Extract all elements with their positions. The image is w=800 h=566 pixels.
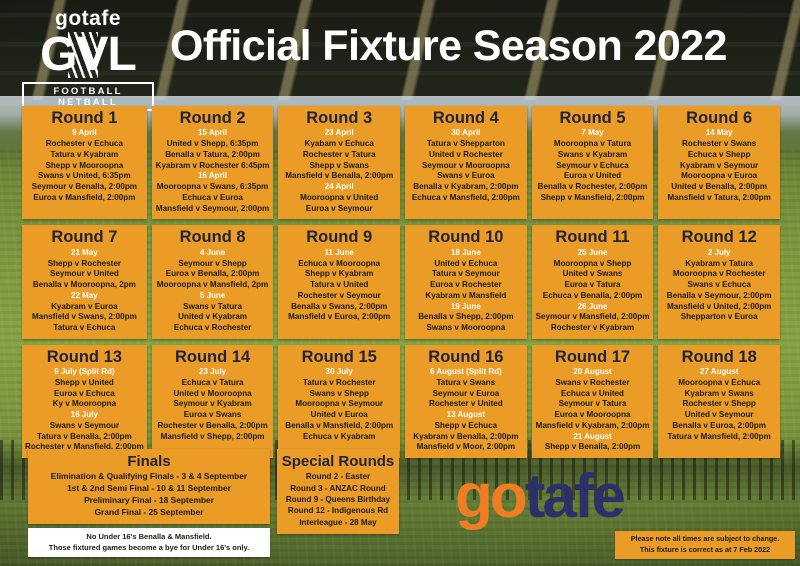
gotafe-wordmark: gotafe [22, 8, 154, 29]
fixture-match: Swans v Rochester [535, 378, 651, 389]
round-date: 22 May [25, 291, 144, 302]
fixture-match: Kyabram v Tatura [661, 259, 777, 270]
fixture-match: Echuca v Shepp [661, 150, 777, 161]
fixture-match: Echuca v Benalla, 2:00pm [535, 291, 651, 302]
fixture-match: Tatura v Mansfield, 2:00pm [661, 432, 777, 443]
fixture-match: United v Kyabram [155, 312, 271, 323]
fixture-match: Mooroopna v Echuca [661, 378, 777, 389]
fixture-match: Tatura v Swans [408, 378, 524, 389]
fixture-match: Mansfield v Seymour, 2:00pm [155, 204, 271, 215]
round-date: 19 June [408, 302, 524, 313]
fixture-match: Shepp v Rochester [25, 259, 144, 270]
round-date: 30 July [281, 367, 397, 378]
fixture-match: Mooroopna v Mansfield, 2pm [155, 280, 271, 291]
round-card: Round 57 MayMooroopna v TaturaSwans v Ky… [532, 106, 654, 219]
round-card: Round 614 MayRochester v SwansEchuca v S… [658, 106, 780, 219]
round-date: 24 April [281, 182, 397, 193]
special-round-line: Round 9 - Queens Birthday [281, 494, 395, 505]
fixture-match: Mansfield v United, 2:00pm [661, 302, 777, 313]
fixture-match: Tatura v United [281, 280, 397, 291]
fixture-match: Seymour v Mooroopna [408, 161, 524, 172]
round-title: Round 7 [25, 229, 144, 246]
under16-note-lines: No Under 16's Benalla & Mansfield.Those … [32, 531, 266, 554]
round-title: Round 6 [661, 110, 777, 127]
fixture-match: Rochester v Swans [661, 139, 777, 150]
round-date: 6 August (Split Rd) [408, 367, 524, 378]
fixture-match: Swans v United, 6:35pm [25, 171, 144, 182]
fixture-match: Seymour v Echuca [535, 161, 651, 172]
round-card: Round 1018 JuneUnited v EchucaTatura v S… [405, 225, 527, 338]
fixture-poster: gotafe GVL FOOTBALL NETBALL Official Fix… [0, 0, 800, 566]
round-date: 13 August [408, 410, 524, 421]
fixture-match: Mooroopna v Euroa [661, 171, 777, 182]
fixture-match: Shepp v Echuca [408, 421, 524, 432]
fixture-match: Benalla v Shepp, 2:00pm [408, 312, 524, 323]
fixture-match: Seymour v Benalla, 2:00pm [25, 182, 144, 193]
round-title: Round 15 [281, 349, 397, 366]
round-card: Round 19 AprilRochester v EchucaTatura v… [22, 106, 147, 219]
fixture-match: Kyabram v Swans [661, 389, 777, 400]
round-date: 25 June [535, 248, 651, 259]
disclaimer-lines: Please note all times are subject to cha… [619, 534, 791, 556]
round-card: Round 215 AprilUnited v Shepp, 6:35pmBen… [152, 106, 274, 219]
special-rounds-panel: Special Rounds Round 2 - EasterRound 3 -… [277, 449, 399, 534]
fixture-match: Mansfield v Kyabram, 2:00pm [535, 421, 651, 432]
round-title: Round 3 [281, 110, 397, 127]
fixture-match: Rochester v Seymour [281, 291, 397, 302]
round-date: 20 August [535, 367, 651, 378]
under16-note-line: Those fixtured games become a bye for Un… [32, 542, 266, 553]
finals-line: Elimination & Qualifying Finals - 3 & 4 … [32, 471, 266, 483]
watermark-go-text: go [455, 462, 525, 531]
round-date: 23 July [155, 367, 271, 378]
round-title: Round 1 [25, 110, 144, 127]
round-date: 11 June [281, 248, 397, 259]
fixture-match: Rochester v Kyabram [535, 323, 651, 334]
round-title: Round 12 [661, 229, 777, 246]
fixture-match: Rochester v Tatura [281, 150, 397, 161]
fixture-match: Euroa v Swans [155, 410, 271, 421]
round-title: Round 18 [661, 349, 777, 366]
fixture-match: Seymour v Mansfield, 2:00pm [535, 312, 651, 323]
fixture-match: Mooroopna v United [281, 193, 397, 204]
round-card: Round 84 JuneSeymour v SheppEuroa v Bena… [152, 225, 274, 338]
fixture-match: Mansfield v Euroa, 2:00pm [281, 312, 397, 323]
fixture-match: Seymour v United [25, 269, 144, 280]
special-round-line: Round 3 - ANZAC Round [281, 483, 395, 494]
round-title: Round 4 [408, 110, 524, 127]
round-title: Round 2 [155, 110, 271, 127]
fixture-match: Euroa v Seymour [281, 204, 397, 215]
fixture-match: Tatura v Seymour [408, 269, 524, 280]
fixture-match: Kyabam v Echuca [281, 139, 397, 150]
round-title: Round 13 [25, 349, 144, 366]
fixture-match: Mooroopna v Rochester [661, 269, 777, 280]
fixture-match: United v Seymour [661, 410, 777, 421]
gotafe-watermark-logo: gotafe [455, 466, 623, 528]
fixture-match: Echuca v Euroa [155, 193, 271, 204]
fixture-match: Shepparton v Euroa [661, 312, 777, 323]
round-card: Round 122 JulyKyabram v TaturaMooroopna … [658, 225, 780, 338]
fixture-match: Euroa v Rochester [408, 280, 524, 291]
fixture-match: Kyabram v Rochester 6:45pm [155, 161, 271, 172]
round-card: Round 430 AprilTatura v SheppartonUnited… [405, 106, 527, 219]
fixture-match: Mooroopna v Shepp [535, 259, 651, 270]
fixture-match: Tatura v Echuca [25, 323, 144, 334]
fixture-match: Tatura v Rochester [281, 378, 397, 389]
fixture-match: Mansfield v Tatura, 2:00pm [661, 193, 777, 204]
round-date: 23 April [281, 128, 397, 139]
round-title: Round 10 [408, 229, 524, 246]
round-date: 15 April [155, 128, 271, 139]
fixture-match: Euroa v Benalla, 2:00pm [155, 269, 271, 280]
round-title: Round 16 [408, 349, 524, 366]
finals-line: Grand Final - 25 September [32, 507, 266, 519]
fixture-match: Echuca v Mooroopna [281, 259, 397, 270]
round-date: 5 June [155, 291, 271, 302]
fixture-match: Rochester v Benalla, 2:00pm [155, 421, 271, 432]
finals-line: Preliminary Final - 18 September [32, 495, 266, 507]
fixture-match: Ky v Mooroopna [25, 399, 144, 410]
fixture-match: Rochester v Shepp [661, 399, 777, 410]
under16-note-line: No Under 16's Benalla & Mansfield. [32, 531, 266, 542]
special-round-line: Round 12 - Indigenous Rd [281, 505, 395, 516]
fixture-match: Kyabram v Benalla, 2:00pm [408, 432, 524, 443]
round-card: Round 1827 AugustMooroopna v EchucaKyabr… [658, 345, 780, 458]
fixture-match: Tatura v Kyabram [25, 150, 144, 161]
fixture-match: Kyabram v Euroa [25, 302, 144, 313]
fixture-match: Mansfield v Swans, 2:00pm [25, 312, 144, 323]
gvl-logo: gotafe GVL FOOTBALL NETBALL [22, 8, 154, 111]
round-title: Round 9 [281, 229, 397, 246]
fixture-match: Benalla v Euroa, 2:00pm [661, 421, 777, 432]
finals-panel: Finals Elimination & Qualifying Finals -… [28, 449, 270, 524]
special-rounds-lines: Round 2 - EasterRound 3 - ANZAC RoundRou… [281, 471, 395, 528]
fixture-match: Shepp v Kyabram [281, 269, 397, 280]
fixture-match: Benalla v Mooroopna, 2pm [25, 280, 144, 291]
round-date: 21 May [25, 248, 144, 259]
fixture-match: United v Rochester [408, 150, 524, 161]
page-title: Official Fixture Season 2022 [170, 22, 785, 71]
fixture-match: Euroa v Mansfield, 2:00pm [25, 193, 144, 204]
fixture-match: Mooroopna v Tatura [535, 139, 651, 150]
round-date: 27 August [661, 367, 777, 378]
round-date: 18 June [408, 248, 524, 259]
fixture-match: Echuca v Kyabram [281, 432, 397, 443]
fixture-match: Echuca v United [535, 389, 651, 400]
round-card: Round 1720 AugustSwans v RochesterEchuca… [532, 345, 654, 458]
round-date: 7 May [535, 128, 651, 139]
round-date: 21 August [535, 432, 651, 443]
fixture-match: Seymour v Kyabram [155, 399, 271, 410]
fixture-match: Benalla v Tatura, 2:00pm [155, 150, 271, 161]
round-title: Round 8 [155, 229, 271, 246]
fixture-match: Euroa v United [535, 171, 651, 182]
fixture-match: Swans v Kyabram [535, 150, 651, 161]
fixture-match: Seymour v Euroa [408, 389, 524, 400]
fixture-match: Swans v Euroa [408, 171, 524, 182]
rounds-grid: Round 19 AprilRochester v EchucaTatura v… [22, 106, 780, 458]
fixture-match: Benalla v Swans, 2:00pm [281, 302, 397, 313]
disclaimer-line: This fixture is correct as at 7 Feb 2022 [619, 545, 791, 556]
round-date: 2 July [661, 248, 777, 259]
round-date: 9 July (Split Rd) [25, 367, 144, 378]
finals-title: Finals [32, 453, 266, 470]
fixture-match: Mooroopna v Swans, 6:35pm [155, 182, 271, 193]
fixture-match: Kyabram v Mansfield [408, 291, 524, 302]
round-card: Round 721 MayShepp v RochesterSeymour v … [22, 225, 147, 338]
disclaimer-panel: Please note all times are subject to cha… [615, 531, 795, 559]
fixture-match: United v Swans [535, 269, 651, 280]
fixture-match: Benalla v Kyabram, 2:00pm [408, 182, 524, 193]
fixture-match: Mansfield v Shepp, 2:00pm [155, 432, 271, 443]
fixture-match: Benalla v Seymour, 2:00pm [661, 291, 777, 302]
fixture-match: Swans v Shepp [281, 389, 397, 400]
disclaimer-line: Please note all times are subject to cha… [619, 534, 791, 545]
fixture-match: Echuca v Rochester [155, 323, 271, 334]
round-date: 30 April [408, 128, 524, 139]
round-card: Round 1423 JulyEchuca v TaturaUnited v M… [152, 345, 274, 458]
fixture-match: Kyabram v Seymour [661, 161, 777, 172]
round-date: 16 July [25, 410, 144, 421]
round-date: 16 April [155, 171, 271, 182]
fixture-match: Shepp v Mooroopna [25, 161, 144, 172]
fixture-match: Tatura v Shepparton [408, 139, 524, 150]
fixture-match: Seymour v Tatura [535, 399, 651, 410]
fixture-match: Benalla v Rochester, 2:00pm [535, 182, 651, 193]
fixture-match: Swans v Echuca [661, 280, 777, 291]
fixture-match: Mooroopna v Seymour [281, 399, 397, 410]
fixture-match: Euroa v Echuca [25, 389, 144, 400]
round-date: 26 June [535, 302, 651, 313]
fixture-match: Seymour v Shepp [155, 259, 271, 270]
fixture-match: Echuca v Tatura [155, 378, 271, 389]
round-title: Round 5 [535, 110, 651, 127]
special-round-line: Round 2 - Easter [281, 471, 395, 482]
poster-header: gotafe GVL FOOTBALL NETBALL Official Fix… [0, 0, 800, 96]
fixture-match: United v Euroa [281, 410, 397, 421]
special-round-line: Interleague - 28 May [281, 517, 395, 528]
fixture-match: Swans v Seymour [25, 421, 144, 432]
round-date: 9 April [25, 128, 144, 139]
fixture-match: Mansfield v Moor, 2:00pm [408, 442, 524, 453]
fixture-match: Shepp v Benalla, 2:00pm [535, 442, 651, 453]
round-title: Round 17 [535, 349, 651, 366]
fixture-match: Euroa v Tatura [535, 280, 651, 291]
fixture-match: Mansfield v Benalla, 2:00pm [281, 171, 397, 182]
gvl-stripes-icon [68, 32, 98, 78]
round-date: 4 June [155, 248, 271, 259]
fixture-match: Tatura v Benalla, 2:00pm [25, 432, 144, 443]
round-card: Round 1125 JuneMooroopna v SheppUnited v… [532, 225, 654, 338]
fixture-match: Shepp v Swans [281, 161, 397, 172]
fixture-match: Shepp v United [25, 378, 144, 389]
round-date: 14 May [661, 128, 777, 139]
round-card: Round 911 JuneEchuca v MooroopnaShepp v … [278, 225, 400, 338]
gvl-monogram: GVL [22, 30, 154, 80]
fixture-match: United v Mooroopna [155, 389, 271, 400]
finals-line: 1st & 2nd Semi Final - 10 & 11 September [32, 483, 266, 495]
fixture-match: Benalla v Mansfield, 2:00pm [281, 421, 397, 432]
finals-lines: Elimination & Qualifying Finals - 3 & 4 … [32, 471, 266, 518]
round-card: Round 323 AprilKyabam v EchucaRochester … [278, 106, 400, 219]
round-card: Round 1530 JulyTatura v RochesterSwans v… [278, 345, 400, 458]
fixture-match: United v Benalla, 2:00pm [661, 182, 777, 193]
special-rounds-title: Special Rounds [281, 453, 395, 470]
fixture-match: Rochester v Echuca [25, 139, 144, 150]
under16-note-panel: No Under 16's Benalla & Mansfield.Those … [28, 528, 270, 557]
fixture-match: Euroa v Mooroopna [535, 410, 651, 421]
fixture-match: Shepp v Mansfield, 2:00pm [535, 193, 651, 204]
fixture-match: Swans v Mooroopna [408, 323, 524, 334]
fixture-match: Swans v Tatura [155, 302, 271, 313]
round-title: Round 11 [535, 229, 651, 246]
fixture-match: United v Shepp, 6:35pm [155, 139, 271, 150]
fixture-match: Echuca v Mansfield, 2:00pm [408, 193, 524, 204]
round-card: Round 139 July (Split Rd)Shepp v UnitedE… [22, 345, 147, 458]
fixture-match: United v Echuca [408, 259, 524, 270]
fixture-match: Rochester v United [408, 399, 524, 410]
round-card: Round 166 August (Split Rd)Tatura v Swan… [405, 345, 527, 458]
watermark-tafe-text: tafe [525, 462, 623, 531]
round-title: Round 14 [155, 349, 271, 366]
